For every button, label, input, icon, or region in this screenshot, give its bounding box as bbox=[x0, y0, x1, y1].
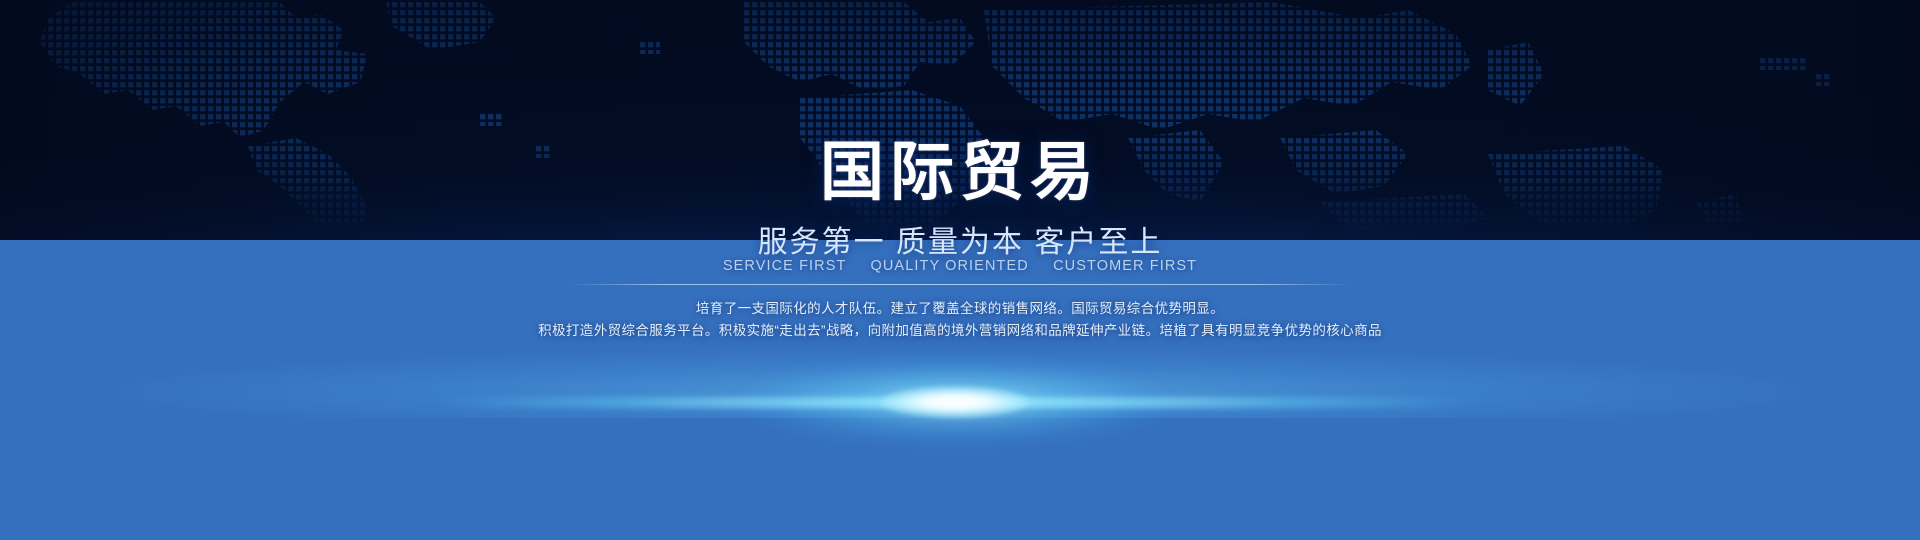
subtitle-english: SERVICE FIRST QUALITY ORIENTED CUSTOMER … bbox=[0, 259, 1920, 274]
subtitle-english-part-1: SERVICE FIRST bbox=[723, 258, 846, 274]
body-line-1: 培育了一支国际化的人才队伍。建立了覆盖全球的销售网络。国际贸易综合优势明显。 bbox=[0, 298, 1920, 320]
sun-flare-core bbox=[880, 386, 1030, 418]
body-copy: 培育了一支国际化的人才队伍。建立了覆盖全球的销售网络。国际贸易综合优势明显。 积… bbox=[0, 298, 1920, 342]
body-line-2: 积极打造外贸综合服务平台。积极实施“走出去”战略，向附加值高的境外营销网络和品牌… bbox=[0, 320, 1920, 342]
page-title: 国际贸易 bbox=[0, 140, 1920, 204]
subtitle-english-part-2: QUALITY ORIENTED bbox=[870, 258, 1028, 274]
subtitle-chinese: 服务第一 质量为本 客户至上 bbox=[0, 228, 1920, 258]
horizontal-divider bbox=[570, 284, 1350, 285]
international-trade-banner: 国际贸易 服务第一 质量为本 客户至上 SERVICE FIRST QUALIT… bbox=[0, 0, 1920, 540]
subtitle-english-part-3: CUSTOMER FIRST bbox=[1053, 258, 1197, 274]
